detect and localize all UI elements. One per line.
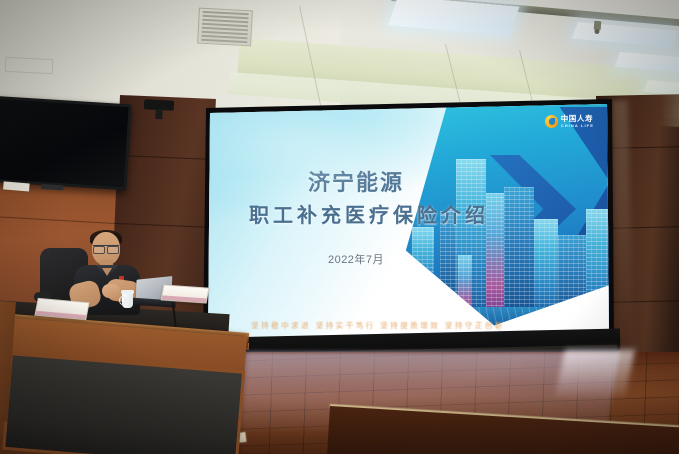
slide-title-line1: 济宁能源 (256, 165, 456, 197)
china-life-logo: 中国人寿 CHINA LIFE (545, 115, 594, 128)
slide-footer-slogan: 坚持稳中求进 坚持实干笃行 坚持提质增效 坚持守正创新 (228, 320, 528, 331)
ceiling-camera-icon (144, 99, 174, 111)
presenter-hands (102, 284, 120, 298)
wall-mounted-television (0, 96, 132, 190)
china-life-logo-mark-icon (545, 115, 558, 128)
presentation-slide: 中国人寿 CHINA LIFE 济宁能源 职工补充医疗保险介绍 2022年7月 … (208, 103, 610, 341)
conference-room-photo: 中国人寿 CHINA LIFE 济宁能源 职工补充医疗保险介绍 2022年7月 … (0, 0, 679, 454)
television-screen (0, 99, 129, 187)
logo-label-en: CHINA LIFE (561, 124, 594, 128)
led-wall-screen[interactable]: 中国人寿 CHINA LIFE 济宁能源 职工补充医疗保险介绍 2022年7月 … (203, 99, 614, 347)
nameplate-right (161, 284, 210, 303)
light-panel-2 (572, 22, 678, 47)
slide-title-line2: 职工补充医疗保险介绍 (224, 199, 514, 228)
light-panel-1 (388, 0, 520, 36)
eyeglasses-icon (93, 245, 119, 252)
logo-label-cn: 中国人寿 (561, 115, 594, 123)
cup-lid (121, 290, 134, 294)
led-wall-screen-frame: 中国人寿 CHINA LIFE 济宁能源 职工补充医疗保险介绍 2022年7月 … (203, 99, 614, 347)
tea-cup (122, 292, 133, 308)
china-life-logo-text: 中国人寿 CHINA LIFE (561, 115, 594, 128)
floor-light-reflection (555, 350, 635, 396)
fire-sprinkler-icon (594, 21, 602, 31)
slide-date: 2022年7月 (256, 251, 456, 267)
podium-inset-panel (2, 352, 245, 454)
ceiling-tile-outline (5, 57, 54, 74)
air-conditioning-vent (197, 8, 253, 47)
building (534, 219, 558, 317)
